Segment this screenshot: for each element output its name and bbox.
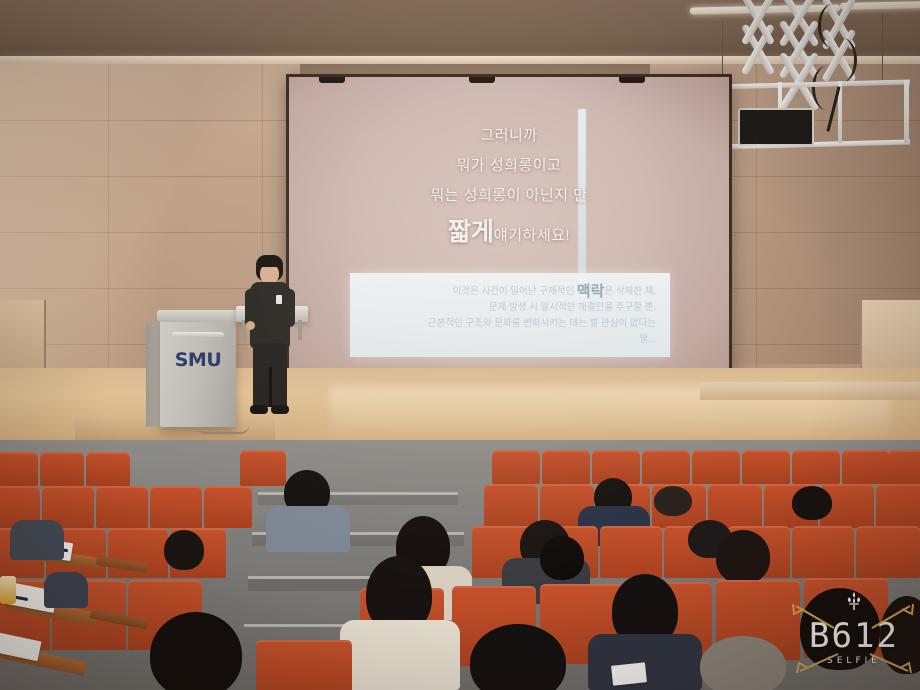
quote-highlight: 맥락 (577, 283, 605, 300)
smu-logo: SMU (160, 349, 236, 371)
seat (492, 450, 540, 484)
presenter-leg-gap (269, 367, 272, 407)
screen-bracket (469, 77, 495, 83)
audience-head (654, 486, 692, 516)
audience-shoulders (44, 572, 88, 608)
seat (0, 452, 38, 486)
presenter-face (260, 264, 279, 284)
rig-frame-bar (904, 80, 909, 144)
presenter-shoe (250, 405, 268, 414)
seat (692, 450, 740, 484)
seat (642, 450, 690, 484)
auditorium-photo: 그러니까 뭐가 성희롱이고 뭐는 성희롱이 아닌지 만 짧게얘기하세요! 이것은… (0, 0, 920, 690)
audience-shoulders (10, 520, 64, 560)
stage-wall-base (700, 382, 920, 400)
audience-shoulders (266, 506, 350, 552)
audience-head (700, 636, 786, 690)
presenter-badge (276, 295, 282, 304)
screen-bracket (619, 77, 645, 83)
seat (792, 526, 854, 578)
hanger-wire (882, 14, 883, 80)
slide-line-2: 뭐가 성희롱이고 (289, 151, 729, 181)
audience-head (792, 486, 832, 520)
slide-emphasis-tail: 얘기하세요! (494, 227, 570, 244)
arrow-bottom-left-icon (794, 652, 840, 674)
seat (876, 484, 920, 528)
screen-surface: 그러니까 뭐가 성희롱이고 뭐는 성희롱이 아닌지 만 짧게얘기하세요! 이것은… (289, 77, 729, 391)
presenter-shoe (271, 405, 289, 414)
drink-cup (0, 576, 16, 604)
seat (204, 486, 252, 528)
presenter-fringe (256, 255, 283, 267)
audience-head (540, 536, 584, 580)
seat (600, 526, 662, 578)
screen-bracket (319, 77, 345, 83)
presenter-hand (246, 321, 255, 330)
slide-headline: 그러니까 뭐가 성희롱이고 뭐는 성희롱이 아닌지 만 짧게얘기하세요! (289, 121, 729, 253)
audience-head (164, 530, 204, 570)
seat (40, 452, 84, 486)
audience-head (716, 530, 770, 584)
podium-handle (172, 332, 224, 337)
lectern-leg (298, 320, 302, 340)
quote-line-1: 이것은 사건이 일어난 구체적인 맥락은 삭제한 채, (350, 284, 670, 300)
seat (542, 450, 590, 484)
projection-screen: 그러니까 뭐가 성희롱이고 뭐는 성희롱이 아닌지 만 짧게얘기하세요! 이것은… (286, 74, 732, 394)
seat (256, 640, 352, 690)
seat (150, 486, 202, 528)
audience-head (150, 612, 242, 690)
presenter (244, 255, 296, 430)
podium: SMU (160, 305, 236, 430)
seat (96, 486, 148, 528)
paper-sheet (611, 662, 647, 685)
seat (484, 484, 538, 528)
slide-quote-box: 이것은 사건이 일어난 구체적인 맥락은 삭제한 채, 문제 발생 시 일시적인… (350, 273, 670, 357)
slide-line-1: 그러니까 (289, 121, 729, 151)
audience-shoulders (340, 620, 460, 690)
seat (742, 450, 790, 484)
seat (86, 452, 130, 486)
presenter-arm (285, 289, 295, 327)
fleur-de-lis-icon (846, 592, 862, 610)
seat (888, 450, 920, 484)
quote-line-4: 말... (350, 332, 670, 348)
seat (856, 526, 920, 578)
slide-line-3: 뭐는 성희롱이 아닌지 만 (289, 181, 729, 211)
quote-line-3: 근본적인 구조와 문화를 변화시키는 데는 별 관심이 없다는 (350, 316, 670, 332)
quote-text-1a: 이것은 사건이 일어난 구체적인 (453, 286, 577, 297)
quote-line-2: 문제 발생 시 일시적인 해결만을 주구할 뿐, (350, 300, 670, 316)
arrow-bottom-right-icon (868, 652, 914, 674)
hanger-wire (722, 22, 723, 80)
seat (240, 450, 286, 486)
projector-rig (700, 0, 920, 170)
podium-top (157, 310, 239, 322)
arrow-right-icon (870, 602, 916, 630)
slide-emphasis-line: 짧게얘기하세요! (289, 215, 729, 253)
arrow-left-icon (790, 602, 836, 630)
seat (842, 450, 890, 484)
b612-watermark: B612 SELFIE (798, 596, 910, 676)
seat (792, 450, 840, 484)
floor-cable (196, 424, 250, 434)
slide-emphasis-word: 짧게 (448, 218, 494, 246)
presenter-torso (250, 282, 290, 348)
projector-body (738, 108, 814, 146)
quote-text-1b: 은 삭제한 채, (604, 286, 656, 297)
